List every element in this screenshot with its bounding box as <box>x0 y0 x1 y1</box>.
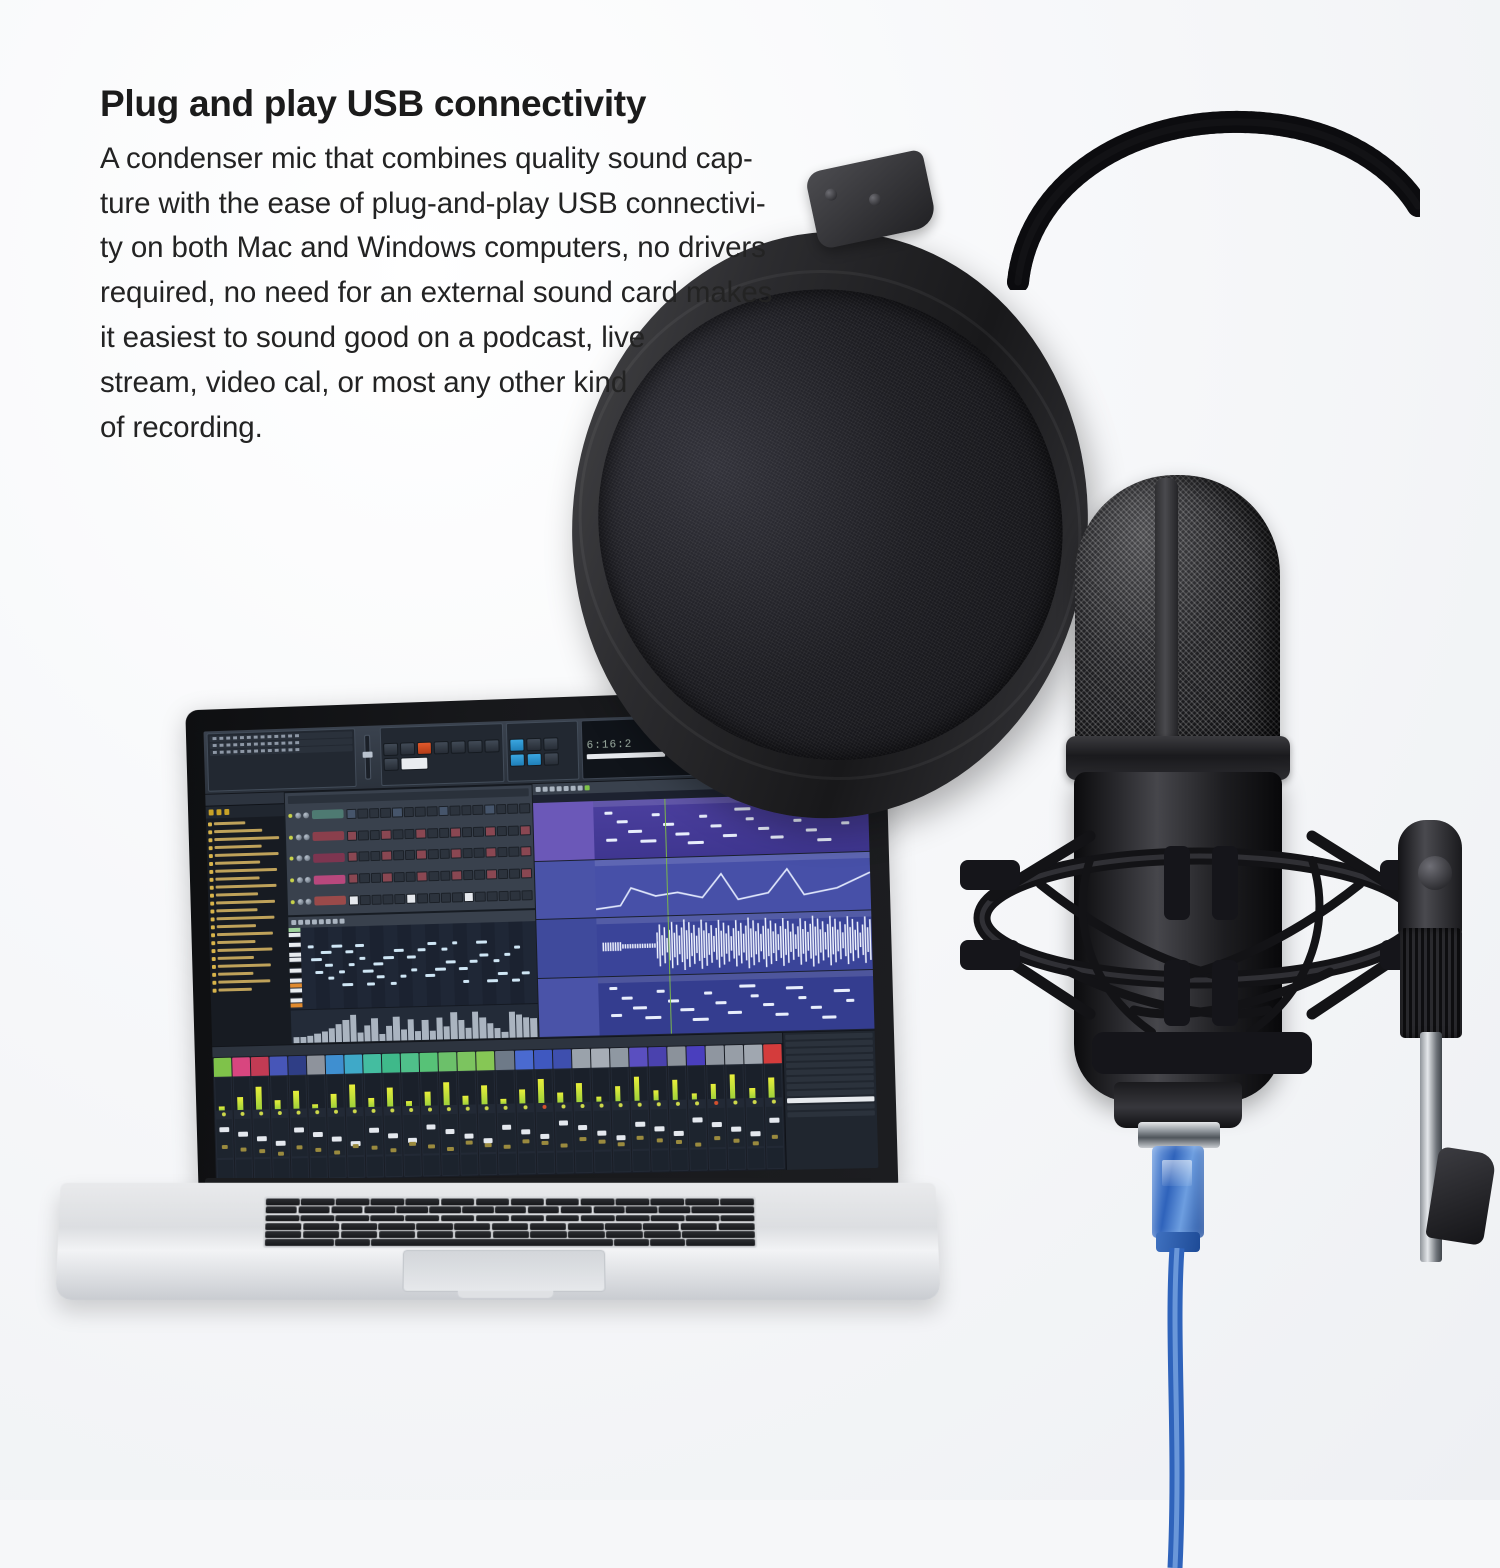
strip-header[interactable] <box>363 1053 381 1073</box>
step-button[interactable] <box>496 826 507 836</box>
play-button[interactable] <box>383 742 398 755</box>
velocity-bar[interactable] <box>407 1019 414 1040</box>
keyboard-key[interactable] <box>593 1207 624 1214</box>
keyboard-key[interactable] <box>644 1231 681 1238</box>
step-button[interactable] <box>487 891 498 901</box>
step-button[interactable] <box>359 852 370 862</box>
midi-note-block[interactable] <box>798 996 806 999</box>
volume-fader[interactable] <box>766 1106 783 1146</box>
midi-note[interactable] <box>331 944 342 947</box>
strip-led[interactable] <box>535 1104 553 1111</box>
midi-note[interactable] <box>373 963 384 966</box>
strip-header[interactable] <box>326 1054 344 1074</box>
send-area[interactable] <box>348 1157 364 1177</box>
strip-header[interactable] <box>495 1050 514 1070</box>
strip-led[interactable] <box>252 1110 270 1117</box>
send-area[interactable] <box>292 1158 308 1178</box>
velocity-bar[interactable] <box>322 1031 328 1042</box>
piano-roll[interactable] <box>287 909 540 1044</box>
keyboard-key[interactable] <box>691 1207 754 1214</box>
channel-rows[interactable] <box>288 798 533 912</box>
velocity-bar[interactable] <box>300 1037 306 1043</box>
channel-knobs[interactable] <box>297 877 311 883</box>
strip-header[interactable] <box>270 1056 288 1076</box>
mixer-panel[interactable] <box>212 1030 878 1182</box>
keyboard-key[interactable] <box>581 1215 615 1222</box>
playlist-track[interactable] <box>537 911 873 979</box>
step-button[interactable] <box>498 891 509 901</box>
strip-led[interactable] <box>726 1099 744 1106</box>
send-area[interactable] <box>499 1154 516 1174</box>
midi-note-block[interactable] <box>751 994 759 997</box>
master-volume-slider[interactable] <box>357 727 378 786</box>
channel-name[interactable] <box>313 874 345 884</box>
strip-led[interactable] <box>478 1105 496 1112</box>
velocity-bar[interactable] <box>451 1012 458 1038</box>
midi-note[interactable] <box>345 950 353 953</box>
velocity-bar[interactable] <box>314 1034 320 1042</box>
volume-fader[interactable] <box>404 1115 421 1154</box>
midi-note-block[interactable] <box>606 838 617 841</box>
step-button[interactable] <box>417 871 428 881</box>
step-button[interactable] <box>369 830 380 840</box>
mixer-strip[interactable] <box>344 1054 365 1178</box>
mixer-strip[interactable] <box>477 1051 498 1176</box>
strip-header[interactable] <box>382 1053 400 1073</box>
strip-led[interactable] <box>459 1105 477 1112</box>
track-header[interactable] <box>537 919 598 978</box>
midi-note[interactable] <box>428 942 436 945</box>
midi-note[interactable] <box>321 951 332 954</box>
step-button[interactable] <box>498 869 509 879</box>
velocity-bar[interactable] <box>508 1012 515 1037</box>
step-button[interactable] <box>406 893 417 903</box>
playlist-toggle-icon[interactable] <box>510 738 525 751</box>
send-area[interactable] <box>386 1156 402 1176</box>
keyboard-key[interactable] <box>650 1239 685 1246</box>
step-button[interactable] <box>440 871 451 881</box>
velocity-bar[interactable] <box>415 1031 421 1039</box>
send-area[interactable] <box>690 1150 707 1170</box>
mixer-strip[interactable] <box>420 1052 441 1176</box>
mixer-toggle-icon[interactable] <box>527 737 542 751</box>
midi-note[interactable] <box>435 967 446 970</box>
loop-button[interactable] <box>434 741 449 754</box>
step-button[interactable] <box>519 803 530 813</box>
volume-fader[interactable] <box>555 1111 572 1150</box>
keyboard-key[interactable] <box>659 1207 690 1214</box>
send-area[interactable] <box>728 1149 745 1169</box>
step-button[interactable] <box>370 851 381 861</box>
strip-header[interactable] <box>552 1049 571 1069</box>
step-button[interactable] <box>451 870 462 880</box>
step-button[interactable] <box>416 850 427 860</box>
keyboard-key[interactable] <box>336 1215 370 1222</box>
strip-led[interactable] <box>669 1101 687 1108</box>
strip-header[interactable] <box>458 1051 476 1071</box>
view-toggles[interactable] <box>506 721 579 783</box>
strip-header[interactable] <box>439 1052 457 1072</box>
step-button[interactable] <box>484 804 495 814</box>
channel-led[interactable] <box>288 835 292 839</box>
keyboard-row[interactable] <box>265 1223 754 1230</box>
step-button[interactable] <box>440 892 451 902</box>
volume-fader[interactable] <box>574 1111 591 1151</box>
volume-fader[interactable] <box>670 1109 687 1149</box>
keyboard-key[interactable] <box>336 1199 370 1206</box>
mixer-strip[interactable] <box>571 1048 593 1173</box>
volume-fader[interactable] <box>385 1115 402 1154</box>
midi-note[interactable] <box>329 977 335 980</box>
keyboard-row[interactable] <box>266 1207 755 1214</box>
keyboard-key[interactable] <box>301 1199 335 1206</box>
midi-note-block[interactable] <box>680 1008 694 1011</box>
send-area[interactable] <box>461 1154 477 1174</box>
keyboard-key[interactable] <box>341 1231 377 1238</box>
keyboard-key[interactable] <box>406 1199 440 1206</box>
step-button[interactable] <box>507 804 518 814</box>
step-button[interactable] <box>358 830 369 840</box>
keyboard-key[interactable] <box>303 1231 340 1238</box>
track-clips[interactable] <box>598 970 874 1035</box>
mixer-strip[interactable] <box>363 1053 384 1177</box>
velocity-bar[interactable] <box>336 1024 343 1041</box>
keyboard-key[interactable] <box>379 1231 415 1238</box>
mixer-strip[interactable] <box>326 1054 347 1178</box>
keyboard-key[interactable] <box>643 1223 679 1230</box>
velocity-bar[interactable] <box>350 1015 357 1041</box>
volume-fader[interactable] <box>328 1117 345 1156</box>
send-area[interactable] <box>537 1153 554 1173</box>
keyboard-key[interactable] <box>528 1207 559 1214</box>
mixer-strip[interactable] <box>629 1047 651 1172</box>
midi-note[interactable] <box>480 953 488 956</box>
midi-note[interactable] <box>441 948 447 951</box>
velocity-bar[interactable] <box>329 1028 336 1042</box>
step-button[interactable] <box>415 807 426 817</box>
volume-fader[interactable] <box>517 1112 534 1151</box>
velocity-bar[interactable] <box>422 1020 429 1040</box>
send-area[interactable] <box>236 1159 252 1179</box>
strip-header[interactable] <box>648 1046 667 1066</box>
volume-fader[interactable] <box>216 1119 233 1158</box>
channel-led[interactable] <box>289 857 293 861</box>
keyboard-key[interactable] <box>441 1215 475 1222</box>
midi-note-block[interactable] <box>739 984 756 987</box>
midi-note[interactable] <box>349 963 355 966</box>
velocity-bar[interactable] <box>364 1026 371 1041</box>
midi-note-block[interactable] <box>763 1003 774 1006</box>
midi-note[interactable] <box>476 940 487 943</box>
volume-fader[interactable] <box>291 1117 308 1156</box>
midi-note[interactable] <box>367 982 375 985</box>
strip-header[interactable] <box>420 1052 438 1072</box>
mixer-strip[interactable] <box>495 1050 516 1175</box>
strip-led[interactable] <box>516 1104 534 1111</box>
midi-note[interactable] <box>498 972 509 975</box>
mixer-strip[interactable] <box>382 1053 403 1177</box>
step-button[interactable] <box>380 808 391 818</box>
keyboard-key[interactable] <box>454 1223 490 1230</box>
send-area[interactable] <box>217 1160 233 1180</box>
send-area[interactable] <box>671 1150 688 1170</box>
step-button[interactable] <box>359 873 370 883</box>
volume-fader[interactable] <box>747 1107 764 1147</box>
keyboard-key[interactable] <box>685 1199 719 1206</box>
keyboard-key[interactable] <box>530 1231 566 1238</box>
step-button[interactable] <box>348 895 359 905</box>
velocity-bar[interactable] <box>393 1016 400 1040</box>
keyboard-row[interactable] <box>265 1215 754 1222</box>
strip-led[interactable] <box>327 1109 345 1116</box>
keyboard-key[interactable] <box>651 1199 685 1206</box>
track-header[interactable] <box>535 860 596 919</box>
keyboard-key[interactable] <box>476 1215 510 1222</box>
mixer-strip[interactable] <box>214 1057 235 1181</box>
midi-note-block[interactable] <box>676 832 690 835</box>
volume-fader[interactable] <box>612 1110 629 1150</box>
send-area[interactable] <box>767 1148 784 1168</box>
strip-header[interactable] <box>725 1044 744 1064</box>
midi-note-block[interactable] <box>645 1015 661 1018</box>
strip-led[interactable] <box>707 1100 725 1107</box>
step-button[interactable] <box>485 826 496 836</box>
send-area[interactable] <box>709 1149 726 1169</box>
keyboard-key[interactable] <box>265 1231 302 1238</box>
velocity-bar[interactable] <box>458 1020 465 1038</box>
piano-roll-body[interactable] <box>288 921 538 1009</box>
midi-note-block[interactable] <box>604 811 612 814</box>
midi-note[interactable] <box>377 976 385 979</box>
step-button[interactable] <box>451 849 462 859</box>
step-button[interactable] <box>405 872 416 882</box>
midi-note[interactable] <box>355 944 363 947</box>
strip-led[interactable] <box>384 1107 402 1114</box>
mixer-strip[interactable] <box>552 1049 574 1174</box>
step-button[interactable] <box>426 806 437 816</box>
strip-led[interactable] <box>592 1102 610 1109</box>
keyboard-key[interactable] <box>301 1215 335 1222</box>
strip-header[interactable] <box>514 1050 533 1070</box>
channel-name[interactable] <box>313 853 345 863</box>
step-button[interactable] <box>521 890 532 900</box>
send-area[interactable] <box>748 1148 765 1168</box>
volume-fader[interactable] <box>708 1108 725 1148</box>
step-button[interactable] <box>509 847 520 857</box>
keyboard-key[interactable] <box>331 1207 362 1214</box>
count-button[interactable] <box>384 757 399 770</box>
mixer-strip[interactable] <box>686 1045 708 1170</box>
midi-note-block[interactable] <box>651 813 659 816</box>
playlist-track[interactable] <box>538 970 874 1038</box>
send-area[interactable] <box>518 1153 535 1173</box>
midi-note-block[interactable] <box>640 839 656 843</box>
strip-header[interactable] <box>288 1055 306 1075</box>
step-button[interactable] <box>403 807 414 817</box>
strip-led[interactable] <box>745 1099 763 1106</box>
velocity-bar[interactable] <box>429 1030 435 1039</box>
playhead[interactable] <box>669 975 672 1033</box>
strip-led[interactable] <box>440 1106 458 1113</box>
strip-header[interactable] <box>533 1049 552 1069</box>
keyboard-key[interactable] <box>546 1215 580 1222</box>
keyboard-key[interactable] <box>681 1223 717 1230</box>
channel-led[interactable] <box>290 900 294 904</box>
midi-note-block[interactable] <box>834 989 851 992</box>
keyboard-key[interactable] <box>682 1231 755 1238</box>
keyboard-key[interactable] <box>379 1223 415 1230</box>
channel-knobs[interactable] <box>297 898 311 904</box>
step-button[interactable] <box>383 894 394 904</box>
channel-knobs[interactable] <box>295 834 309 840</box>
step-button[interactable] <box>452 892 463 902</box>
step-sequence[interactable] <box>346 803 530 819</box>
browser-toggle-icon[interactable] <box>544 737 559 751</box>
midi-note-block[interactable] <box>704 992 712 995</box>
keyboard-key[interactable] <box>371 1239 612 1246</box>
strip-header[interactable] <box>232 1057 250 1077</box>
step-button[interactable] <box>462 827 473 837</box>
keyboard-key[interactable] <box>561 1207 592 1214</box>
midi-note-block[interactable] <box>616 820 627 823</box>
mixer-strip[interactable] <box>307 1055 328 1179</box>
step-button[interactable] <box>428 871 439 881</box>
keyboard-key[interactable] <box>416 1223 452 1230</box>
strip-header[interactable] <box>477 1051 496 1071</box>
midi-note[interactable] <box>469 960 477 963</box>
keyboard-key[interactable] <box>371 1199 405 1206</box>
strip-led[interactable] <box>630 1101 648 1108</box>
send-area[interactable] <box>652 1150 669 1170</box>
step-button[interactable] <box>450 805 461 815</box>
midi-note-block[interactable] <box>846 998 854 1001</box>
midi-note[interactable] <box>339 970 345 973</box>
keyboard-key[interactable] <box>493 1231 529 1238</box>
step-button[interactable] <box>429 893 440 903</box>
send-area[interactable] <box>255 1159 271 1179</box>
browser-panel[interactable] <box>205 792 290 1045</box>
volume-fader[interactable] <box>272 1118 289 1157</box>
volume-fader[interactable] <box>631 1110 648 1150</box>
step-button[interactable] <box>382 872 393 882</box>
keyboard-key[interactable] <box>616 1199 650 1206</box>
keyboard-row[interactable] <box>265 1231 755 1238</box>
step-button[interactable] <box>404 829 415 839</box>
keyboard-key[interactable] <box>266 1207 297 1214</box>
send-area[interactable] <box>594 1152 611 1172</box>
volume-fader[interactable] <box>498 1113 515 1152</box>
rack-toggle-icon[interactable] <box>527 752 542 765</box>
keyboard-key[interactable] <box>651 1215 685 1222</box>
midi-note-block[interactable] <box>628 830 642 833</box>
volume-fader[interactable] <box>460 1113 477 1152</box>
midi-note[interactable] <box>401 975 407 978</box>
midi-note[interactable] <box>393 949 404 952</box>
step-button[interactable] <box>427 828 438 838</box>
mixer-strip[interactable] <box>705 1045 727 1171</box>
keyboard-key[interactable] <box>495 1207 526 1214</box>
keyboard-key[interactable] <box>298 1207 329 1214</box>
keyboard-key[interactable] <box>335 1239 370 1246</box>
midi-note[interactable] <box>445 961 456 964</box>
send-area[interactable] <box>311 1158 327 1178</box>
keyboard-key[interactable] <box>303 1223 339 1230</box>
midi-note-block[interactable] <box>775 1013 789 1016</box>
midi-note[interactable] <box>512 978 520 981</box>
channel-name[interactable] <box>314 896 346 906</box>
send-area[interactable] <box>480 1154 497 1174</box>
keyboard-key[interactable] <box>567 1223 603 1230</box>
velocity-bar[interactable] <box>472 1011 479 1038</box>
midi-note-block[interactable] <box>786 986 803 989</box>
step-button[interactable] <box>394 894 405 904</box>
channel-rack[interactable] <box>283 784 536 916</box>
keyboard-key[interactable] <box>530 1223 566 1230</box>
keyboard-key[interactable] <box>265 1215 299 1222</box>
note-grid[interactable] <box>300 921 538 1009</box>
midi-note[interactable] <box>487 979 498 982</box>
step-button[interactable] <box>417 893 428 903</box>
keyboard-key[interactable] <box>476 1199 509 1206</box>
strip-header[interactable] <box>705 1045 724 1065</box>
volume-fader[interactable] <box>347 1116 364 1155</box>
strip-led[interactable] <box>573 1103 591 1110</box>
mixer-strip[interactable] <box>439 1052 460 1177</box>
midi-note-block[interactable] <box>823 1015 837 1018</box>
midi-note[interactable] <box>325 964 333 967</box>
step-button[interactable] <box>393 851 404 861</box>
step-button[interactable] <box>405 850 416 860</box>
track-clips[interactable] <box>596 911 872 977</box>
wait-button[interactable] <box>485 739 500 752</box>
midi-note[interactable] <box>417 948 425 951</box>
keyboard-key[interactable] <box>686 1215 720 1222</box>
keyboard-key[interactable] <box>546 1199 580 1206</box>
mixer-strip[interactable] <box>458 1051 479 1176</box>
step-button[interactable] <box>475 891 486 901</box>
velocity-bar[interactable] <box>343 1020 350 1041</box>
strip-led[interactable] <box>765 1098 783 1105</box>
step-button[interactable] <box>347 830 358 840</box>
strip-led[interactable] <box>365 1108 383 1115</box>
mixer-strip[interactable] <box>725 1044 747 1170</box>
strip-led[interactable] <box>497 1105 515 1112</box>
channel-knobs[interactable] <box>296 855 310 861</box>
step-button[interactable] <box>371 894 382 904</box>
step-button[interactable] <box>371 873 382 883</box>
velocity-lane[interactable] <box>290 1003 539 1043</box>
effects-rack[interactable] <box>782 1030 879 1170</box>
volume-fader[interactable] <box>651 1109 668 1149</box>
midi-note[interactable] <box>363 969 374 972</box>
midi-note-block[interactable] <box>611 1014 622 1017</box>
mixer-strip[interactable] <box>288 1055 309 1179</box>
mixer-strip[interactable] <box>744 1044 766 1170</box>
keyboard-key[interactable] <box>462 1207 493 1214</box>
keyboard-key[interactable] <box>341 1223 377 1230</box>
midi-note-block[interactable] <box>656 989 664 992</box>
mixer-strip[interactable] <box>270 1056 291 1180</box>
step-button[interactable] <box>474 870 485 880</box>
step-button[interactable] <box>439 849 450 859</box>
record-button[interactable] <box>417 741 432 754</box>
keyboard-key[interactable] <box>721 1215 755 1222</box>
step-button[interactable] <box>428 849 439 859</box>
strip-led[interactable] <box>649 1101 667 1108</box>
transport-controls[interactable] <box>380 723 505 786</box>
send-area[interactable] <box>273 1159 289 1179</box>
keyboard-row[interactable] <box>266 1199 754 1206</box>
